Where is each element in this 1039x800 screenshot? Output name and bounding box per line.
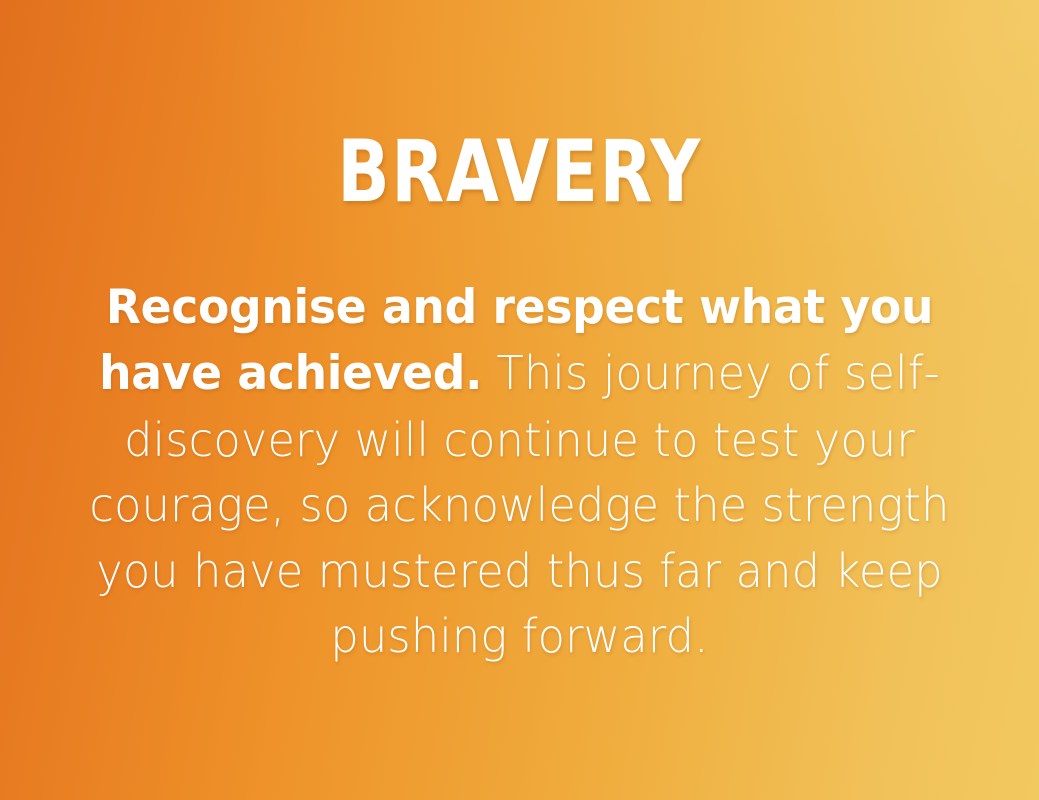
card-content: BRAVERY Recognise and respect what you h… [0, 0, 1039, 800]
quote-text: Recognise and respect what you have achi… [85, 211, 953, 670]
quote-card: BRAVERY Recognise and respect what you h… [0, 0, 1039, 800]
page-title: BRAVERY [162, 135, 878, 211]
